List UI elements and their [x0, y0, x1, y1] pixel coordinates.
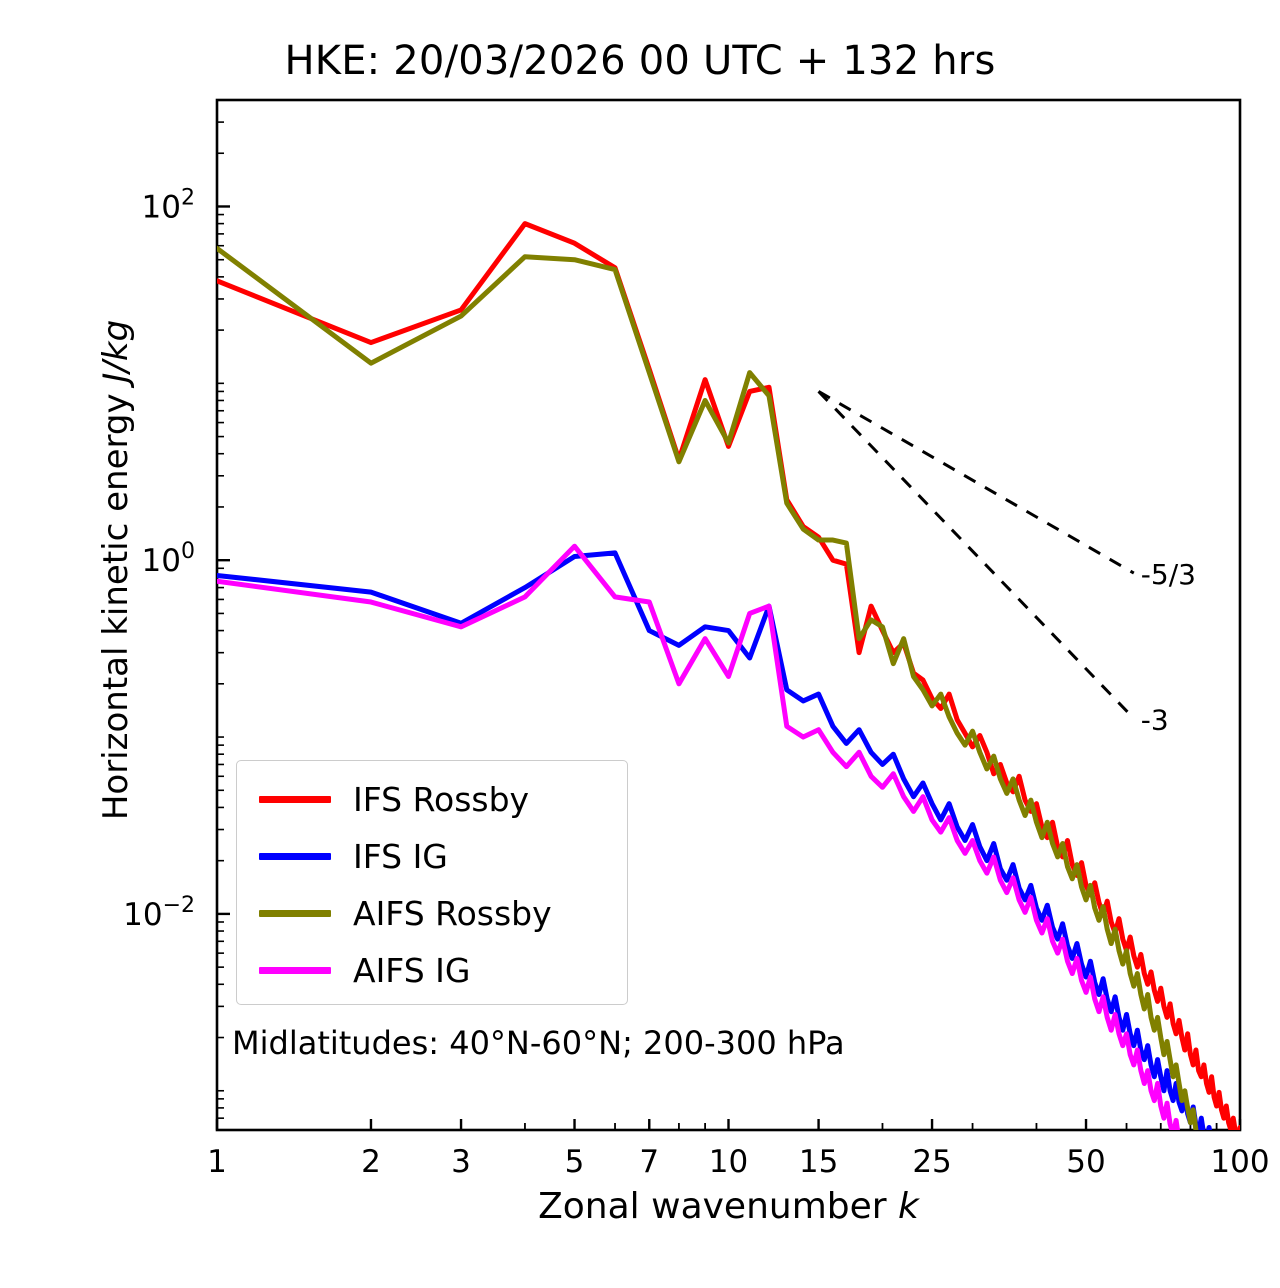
y-tick-label: 102 — [142, 185, 195, 225]
legend-swatch-aifs-ig — [259, 967, 331, 974]
y-axis-label-units: J/kg — [96, 320, 136, 383]
x-tick-label: 5 — [565, 1144, 585, 1180]
x-tick-label: 10 — [709, 1144, 748, 1180]
x-tick-label: 2 — [361, 1144, 381, 1180]
x-axis-label-main: Zonal wavenumber — [538, 1186, 898, 1227]
legend-label-ifs-rossby: IFS Rossby — [353, 783, 529, 816]
legend-item-aifs-rossby: AIFS Rossby — [237, 885, 627, 942]
legend-item-ifs-rossby: IFS Rossby — [237, 771, 627, 828]
plot-svg: 123571015255010010210010−2 -5/3-3 — [0, 0, 1280, 1288]
legend-label-aifs-ig: AIFS IG — [353, 954, 470, 987]
legend-swatch-ifs-rossby — [259, 796, 331, 803]
y-axis-label: Horizontal kinetic energy J/kg — [96, 50, 136, 1090]
x-tick-label: 15 — [799, 1144, 838, 1180]
legend-swatch-ifs-ig — [259, 853, 331, 860]
legend-item-ifs-ig: IFS IG — [237, 828, 627, 885]
x-tick-label: 7 — [639, 1144, 659, 1180]
region-annotation: Midlatitudes: 40°N-60°N; 200-300 hPa — [232, 1024, 845, 1062]
legend-item-aifs-ig: AIFS IG — [237, 942, 627, 999]
x-tick-label: 1 — [207, 1144, 227, 1180]
legend-swatch-aifs-rossby — [259, 910, 331, 917]
x-tick-label: 50 — [1066, 1144, 1105, 1180]
x-tick-label: 25 — [912, 1144, 951, 1180]
legend: IFS Rossby IFS IG AIFS Rossby AIFS IG — [236, 760, 628, 1005]
x-tick-label: 100 — [1210, 1144, 1269, 1180]
legend-label-ifs-ig: IFS IG — [353, 840, 448, 873]
x-axis-label-symbol: k — [898, 1186, 919, 1227]
y-axis-label-main: Horizontal kinetic energy — [96, 383, 136, 821]
legend-label-aifs-rossby: AIFS Rossby — [353, 897, 552, 930]
slope-label-three: -3 — [1141, 703, 1169, 736]
slope-label-five-thirds: -5/3 — [1141, 558, 1196, 591]
x-axis-label: Zonal wavenumber k — [217, 1186, 1240, 1227]
axis-ticks: 123571015255010010210010−2 — [123, 100, 1269, 1180]
slope-reference-lines: -5/3-3 — [819, 391, 1196, 736]
x-tick-label: 3 — [451, 1144, 471, 1180]
y-tick-label: 100 — [142, 539, 195, 579]
figure-canvas: HKE: 20/03/2026 00 UTC + 132 hrs 1235710… — [0, 0, 1280, 1288]
